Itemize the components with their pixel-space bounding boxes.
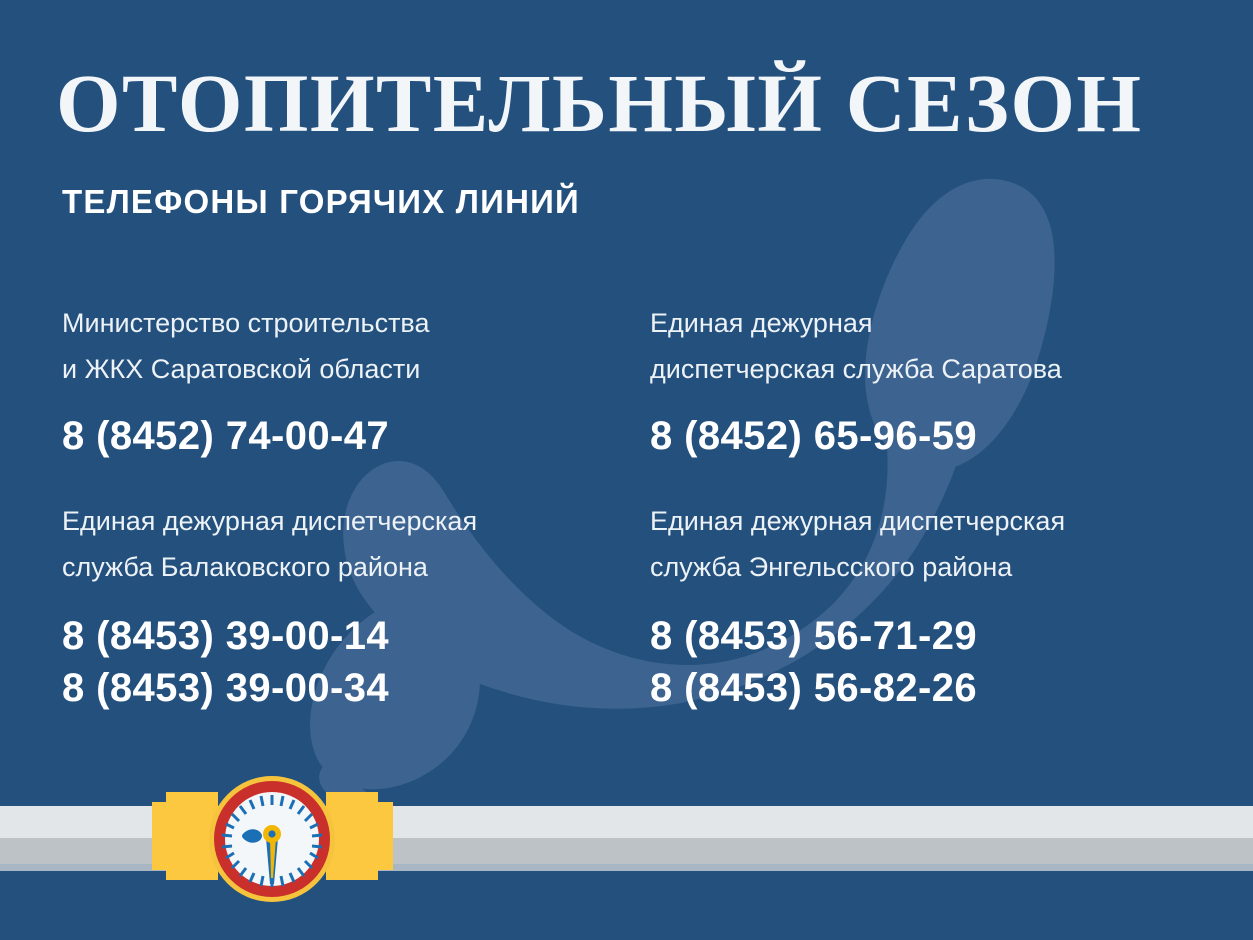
org-name-line: и ЖКХ Саратовской области <box>62 346 430 392</box>
phone-list: 8 (8452) 74-00-47 <box>62 410 430 462</box>
phone-number[interactable]: 8 (8453) 39-00-34 <box>62 662 477 714</box>
contact-block-saratov: Единая дежурная диспетчерская служба Сар… <box>650 300 1062 462</box>
phone-number[interactable]: 8 (8452) 65-96-59 <box>650 410 1062 462</box>
org-name-line: диспетчерская служба Саратова <box>650 346 1062 392</box>
phone-number[interactable]: 8 (8453) 56-71-29 <box>650 610 1065 662</box>
org-name-line: служба Энгельсского района <box>650 544 1065 590</box>
meter-flange-right <box>326 792 393 880</box>
phone-number[interactable]: 8 (8453) 56-82-26 <box>650 662 1065 714</box>
org-name-line: Единая дежурная диспетчерская <box>62 498 477 544</box>
phone-number[interactable]: 8 (8452) 74-00-47 <box>62 410 430 462</box>
org-name-line: Единая дежурная диспетчерская <box>650 498 1065 544</box>
heat-meter-icon <box>150 762 395 922</box>
contact-block-ministry: Министерство строительства и ЖКХ Саратов… <box>62 300 430 462</box>
meter-flange-left <box>152 792 218 880</box>
meter-gauge <box>209 776 335 902</box>
org-name-line: Министерство строительства <box>62 300 430 346</box>
org-name-line: Единая дежурная <box>650 300 1062 346</box>
contact-block-engels: Единая дежурная диспетчерская служба Энг… <box>650 498 1065 714</box>
contact-block-balakovo: Единая дежурная диспетчерская служба Бал… <box>62 498 477 714</box>
phone-list: 8 (8453) 39-00-14 8 (8453) 39-00-34 <box>62 610 477 714</box>
phone-number[interactable]: 8 (8453) 39-00-14 <box>62 610 477 662</box>
phone-list: 8 (8452) 65-96-59 <box>650 410 1062 462</box>
org-name-line: служба Балаковского района <box>62 544 477 590</box>
phone-list: 8 (8453) 56-71-29 8 (8453) 56-82-26 <box>650 610 1065 714</box>
poster-root: ОТОПИТЕЛЬНЫЙ СЕЗОН ТЕЛЕФОНЫ ГОРЯЧИХ ЛИНИ… <box>0 0 1253 940</box>
